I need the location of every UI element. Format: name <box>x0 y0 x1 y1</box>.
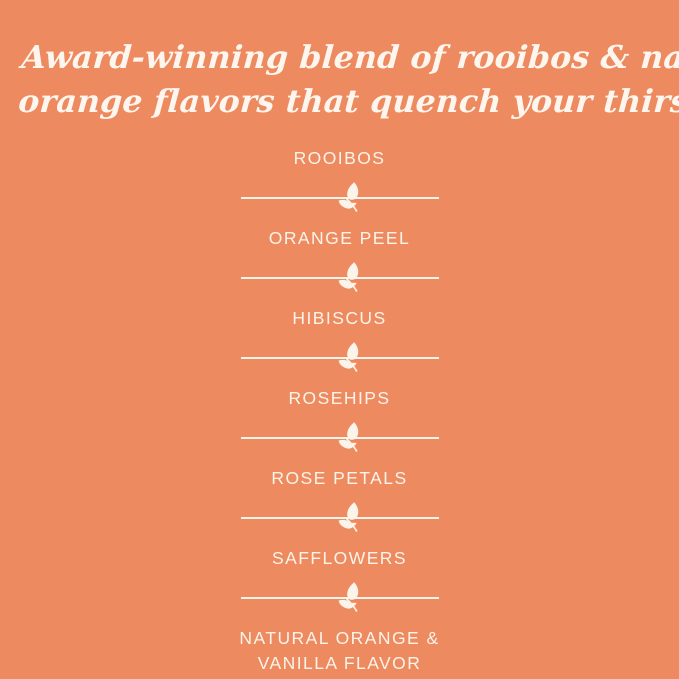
ingredient-label: NATURAL ORANGE & VANILLA FLAVOR <box>0 626 679 676</box>
ingredient-list: ROOIBOS ORANGE PEEL <box>0 146 679 676</box>
leaf-sprig-icon <box>332 578 374 618</box>
ingredient-label: ROOIBOS <box>0 146 679 171</box>
leaf-divider <box>241 258 439 298</box>
headline-line-1: Award-winning blend of rooibos & natural <box>20 36 663 80</box>
leaf-divider <box>241 418 439 458</box>
product-ingredients-infographic: Award-winning blend of rooibos & natural… <box>0 0 679 679</box>
leaf-divider <box>241 178 439 218</box>
ingredient-label: ROSE PETALS <box>0 466 679 491</box>
leaf-sprig-icon <box>332 498 374 538</box>
ingredient-label: SAFFLOWERS <box>0 546 679 571</box>
leaf-sprig-icon <box>332 418 374 458</box>
leaf-sprig-icon <box>332 178 374 218</box>
leaf-divider <box>241 338 439 378</box>
leaf-sprig-icon <box>332 258 374 298</box>
leaf-divider <box>241 578 439 618</box>
headline-line-2: orange flavors that quench your thirst <box>16 80 659 124</box>
headline: Award-winning blend of rooibos & natural… <box>16 36 662 124</box>
ingredient-label: ORANGE PEEL <box>0 226 679 251</box>
leaf-divider <box>241 498 439 538</box>
ingredient-label: ROSEHIPS <box>0 386 679 411</box>
ingredient-label: HIBISCUS <box>0 306 679 331</box>
leaf-sprig-icon <box>332 338 374 378</box>
